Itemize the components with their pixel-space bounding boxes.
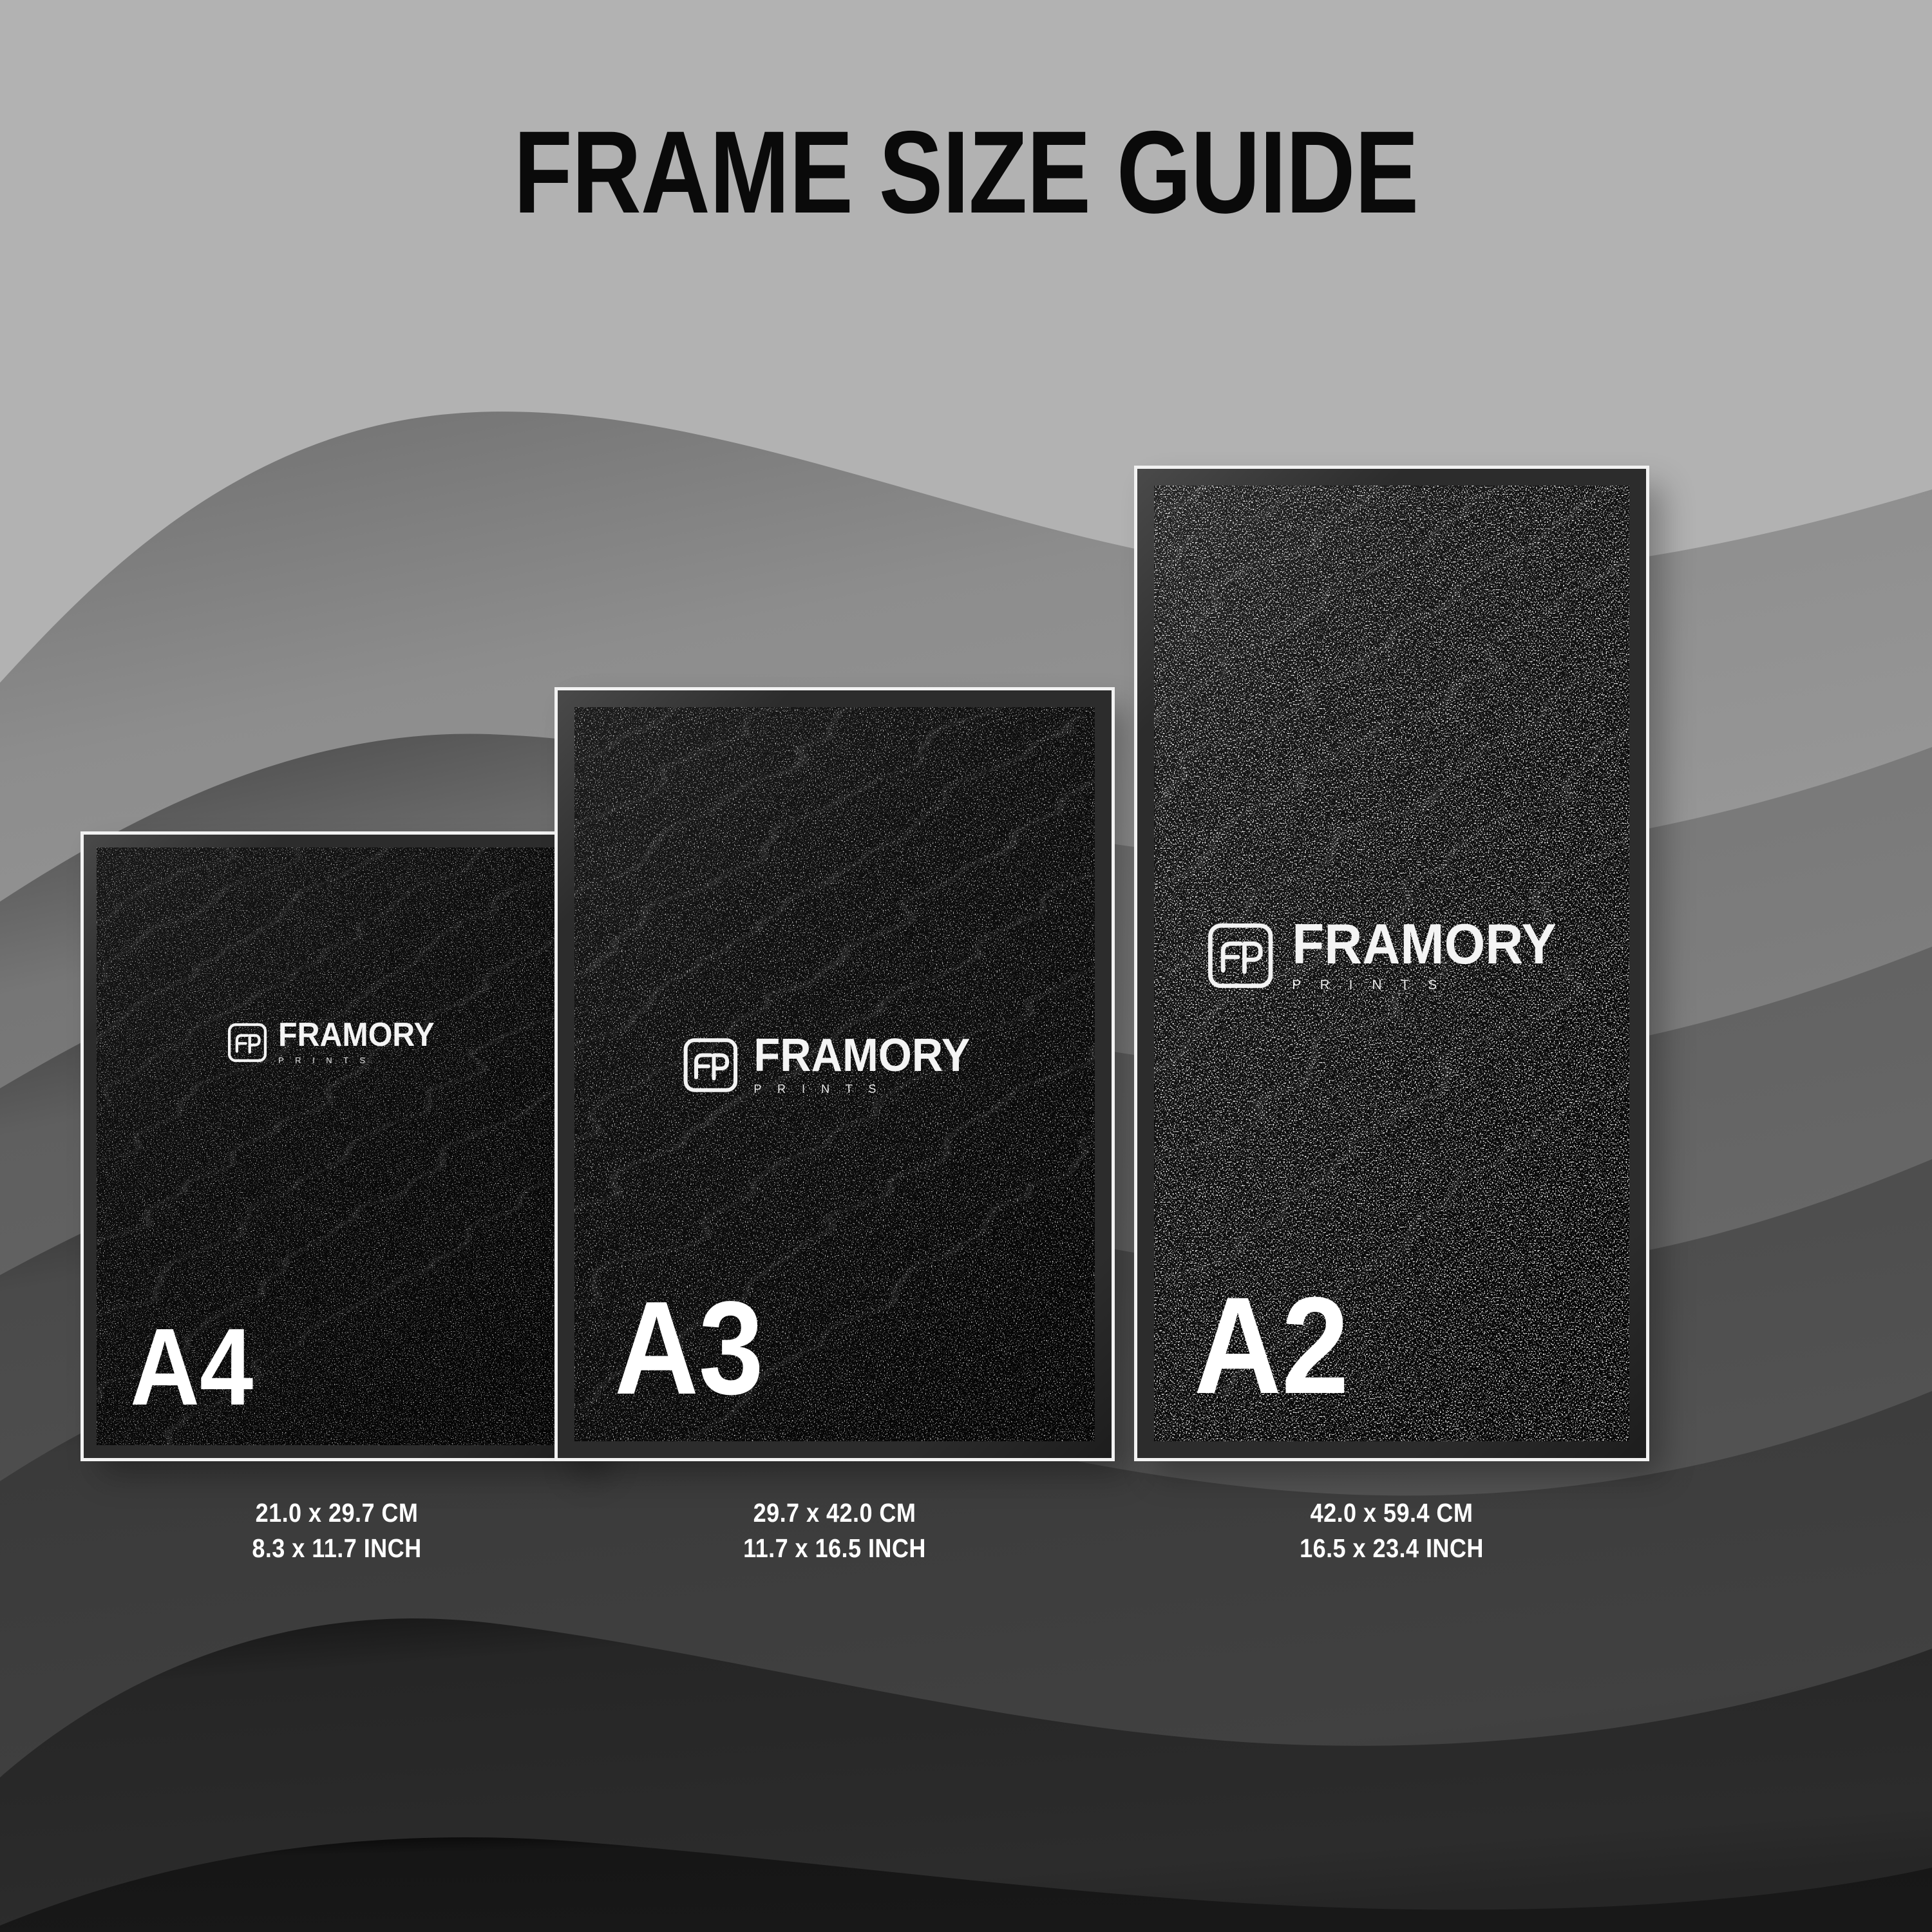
size-code-a2: A2	[1194, 1287, 1349, 1405]
caption-a3-inch: 11.7 x 16.5 INCH	[591, 1531, 1079, 1566]
size-code-a4: A4	[130, 1320, 253, 1414]
frame-preview-a3[interactable]: FRAMORY P R I N T S A3	[558, 690, 1112, 1458]
caption-a3-cm: 29.7 x 42.0 CM	[591, 1495, 1079, 1531]
size-code-a3: A3	[614, 1291, 764, 1405]
caption-a2: 42.0 x 59.4 CM 16.5 x 23.4 INCH	[1168, 1495, 1615, 1566]
caption-a4: 21.0 x 29.7 CM 8.3 x 11.7 INCH	[114, 1495, 560, 1566]
caption-a2-inch: 16.5 x 23.4 INCH	[1168, 1531, 1615, 1566]
caption-a4-inch: 8.3 x 11.7 INCH	[114, 1531, 560, 1566]
frame-artwork-a3: FRAMORY P R I N T S A3	[574, 707, 1095, 1441]
page-title: FRAME SIZE GUIDE	[174, 113, 1758, 231]
frame-preview-a4[interactable]: FRAMORY P R I N T S A4	[84, 835, 590, 1458]
frame-artwork-a2: FRAMORY P R I N T S A2	[1154, 486, 1629, 1441]
frame-size-guide-poster: FRAME SIZE GUIDE	[0, 0, 1932, 1932]
caption-a4-cm: 21.0 x 29.7 CM	[114, 1495, 560, 1531]
frame-artwork-a4: FRAMORY P R I N T S A4	[97, 848, 577, 1445]
caption-a2-cm: 42.0 x 59.4 CM	[1168, 1495, 1615, 1531]
caption-a3: 29.7 x 42.0 CM 11.7 x 16.5 INCH	[591, 1495, 1079, 1566]
frame-preview-a2[interactable]: FRAMORY P R I N T S A2	[1137, 469, 1646, 1458]
